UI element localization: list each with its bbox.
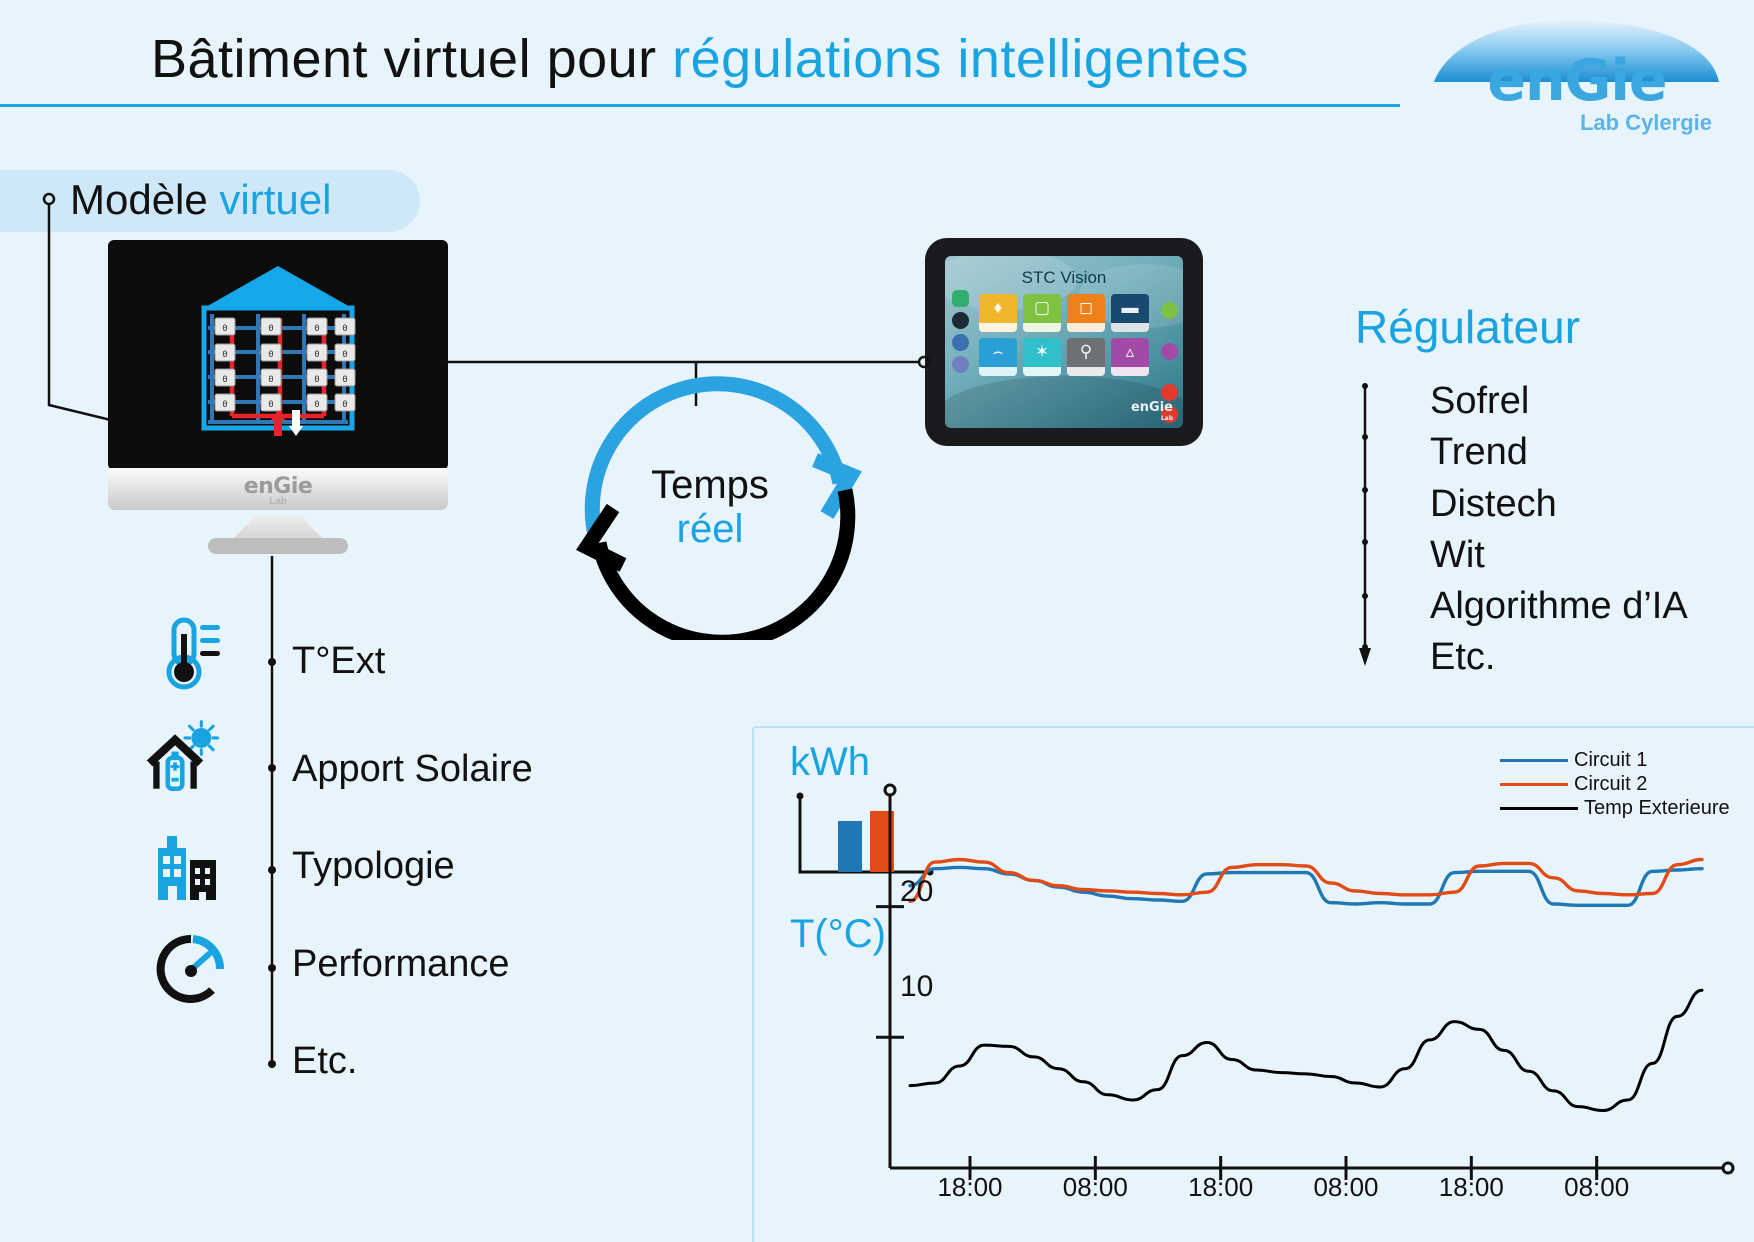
regulator-tablet: STC Vision ♦ ▢ ◻ ▬ xyxy=(925,238,1203,446)
tablet-app-grid: ♦ ▢ ◻ ▬ ⌢ ✶ ⚲ ▵ xyxy=(979,294,1151,382)
svg-text:0: 0 xyxy=(342,400,347,410)
parameter-label-text: T°Ext xyxy=(292,640,385,683)
bucket-tile[interactable]: ◻ xyxy=(1067,294,1105,332)
svg-text:0: 0 xyxy=(268,400,273,410)
regulator-list: Sofrel Trend Distech Wit Algorithme d’IA… xyxy=(1390,376,1688,684)
timeseries-plot xyxy=(860,780,1740,1200)
xtick-label: 08:00 xyxy=(1053,1172,1137,1203)
sparkle-tile[interactable]: ✶ xyxy=(1023,338,1061,376)
bucket-icon: ◻ xyxy=(1067,297,1105,319)
thermometer-icon xyxy=(152,614,230,692)
buildings-icon xyxy=(152,828,230,906)
tile-sheen xyxy=(1111,367,1149,376)
parameter-label-typology: Typologie xyxy=(292,845,455,888)
engie-lab-cylergie-label: Lab Cylergie xyxy=(1442,110,1718,136)
parameter-label-etc: Etc. xyxy=(292,1040,357,1083)
tile-sheen xyxy=(979,367,1017,376)
flame-icon: ♦ xyxy=(979,297,1017,319)
search-icon: ⚲ xyxy=(1067,341,1105,363)
flame-tile[interactable]: ♦ xyxy=(979,294,1017,332)
legend-item-circuit1: Circuit 1 xyxy=(1500,748,1740,772)
arc-icon: ⌢ xyxy=(979,341,1017,363)
svg-text:0: 0 xyxy=(268,350,273,360)
tablet-engie-logo: enGie Lab xyxy=(1131,400,1173,422)
tile-sheen xyxy=(1023,323,1061,332)
building-hvac-schematic: 0000 0000 0000 0000 xyxy=(108,240,448,470)
kwh-axis-label: kWh xyxy=(790,740,870,785)
ytick-label-20: 20 xyxy=(900,875,933,909)
leaf-tile[interactable]: ▢ xyxy=(1023,294,1061,332)
solar-house-icon xyxy=(146,718,224,796)
svg-text:0: 0 xyxy=(342,375,347,385)
regulator-item: Wit xyxy=(1430,530,1688,581)
realtime-cycle-label: Temps réel xyxy=(630,463,790,551)
regulator-item: Trend xyxy=(1430,427,1688,478)
regulator-item: Etc. xyxy=(1430,632,1688,683)
legend-swatch-circuit1 xyxy=(1500,759,1568,762)
left-dot-4 xyxy=(952,356,969,373)
xtick-label: 08:00 xyxy=(1555,1172,1639,1203)
svg-text:0: 0 xyxy=(342,350,347,360)
tablet-screen: STC Vision ♦ ▢ ◻ ▬ xyxy=(945,256,1183,428)
virtual-model-monitor: 0000 0000 0000 0000 enGie Lab xyxy=(108,240,448,570)
parameters-axis xyxy=(264,556,286,1076)
regulator-item: Distech xyxy=(1430,479,1688,530)
svg-text:0: 0 xyxy=(314,375,319,385)
svg-text:0: 0 xyxy=(222,324,227,334)
monitor-stand-base xyxy=(208,538,348,554)
tile-sheen xyxy=(1067,367,1105,376)
right-dot-2 xyxy=(1161,343,1178,360)
tablet-brand-sub: Lab xyxy=(1131,415,1173,422)
kwh-bar-circuit1 xyxy=(838,821,862,872)
tile-row-1: ♦ ▢ ◻ ▬ xyxy=(979,294,1151,332)
monitor-engie-lab-label: Lab xyxy=(108,496,448,507)
search-tile[interactable]: ⚲ xyxy=(1067,338,1105,376)
left-dot-1 xyxy=(952,290,969,307)
cycle-line-1: Temps xyxy=(630,463,790,507)
left-dot-3 xyxy=(952,334,969,351)
tile-sheen xyxy=(1067,323,1105,332)
svg-text:0: 0 xyxy=(222,400,227,410)
tile-sheen xyxy=(979,323,1017,332)
svg-text:0: 0 xyxy=(268,324,273,334)
slider-tile[interactable]: ▬ xyxy=(1111,294,1149,332)
stc-vision-title: STC Vision xyxy=(945,268,1183,288)
tile-sheen xyxy=(1023,367,1061,376)
regulator-item: Algorithme d’IA xyxy=(1430,581,1688,632)
tile-row-2: ⌢ ✶ ⚲ ▵ xyxy=(979,338,1151,376)
gauge-icon xyxy=(152,930,230,1008)
xtick-label: 18:00 xyxy=(1429,1172,1513,1203)
svg-text:0: 0 xyxy=(268,375,273,385)
infographic-root: Bâtiment virtuel pour régulations intell… xyxy=(0,0,1754,1240)
svg-text:0: 0 xyxy=(222,375,227,385)
sail-icon: ▵ xyxy=(1111,341,1149,363)
svg-text:0: 0 xyxy=(222,350,227,360)
parameter-label-solar: Apport Solaire xyxy=(292,748,533,791)
page-title: Bâtiment virtuel pour régulations intell… xyxy=(0,28,1400,90)
engie-logo: enGie Lab Cylergie xyxy=(1426,18,1726,138)
engie-wordmark: enGie xyxy=(1442,48,1712,114)
sparkle-icon: ✶ xyxy=(1023,341,1061,363)
slider-icon: ▬ xyxy=(1111,297,1149,319)
regulator-title: Régulateur xyxy=(1355,300,1580,354)
cycle-line-2: réel xyxy=(630,507,790,551)
right-dot-3 xyxy=(1161,384,1178,401)
xtick-label: 18:00 xyxy=(928,1172,1012,1203)
regulator-list-axis xyxy=(1356,382,1380,672)
ytick-label-10: 10 xyxy=(900,970,933,1004)
svg-text:0: 0 xyxy=(314,324,319,334)
title-underline xyxy=(0,104,1400,107)
page-title-main: Bâtiment virtuel pour xyxy=(151,29,672,89)
tablet-left-dots xyxy=(952,290,969,378)
xtick-label: 18:00 xyxy=(1179,1172,1263,1203)
parameter-label-performance: Performance xyxy=(292,943,510,986)
leaf-icon: ▢ xyxy=(1023,297,1061,319)
model-label-accent: virtuel xyxy=(219,176,331,223)
legend-label-circuit1: Circuit 1 xyxy=(1574,749,1647,772)
xtick-label: 08:00 xyxy=(1304,1172,1388,1203)
svg-text:0: 0 xyxy=(314,400,319,410)
tablet-brand: enGie xyxy=(1131,400,1173,415)
page-title-accent: régulations intelligentes xyxy=(672,29,1249,89)
arc-tile[interactable]: ⌢ xyxy=(979,338,1017,376)
sail-tile[interactable]: ▵ xyxy=(1111,338,1149,376)
regulator-item: Sofrel xyxy=(1430,376,1688,427)
xtick-labels: 18:0008:0018:0008:0018:0008:00 xyxy=(860,1172,1740,1206)
svg-text:0: 0 xyxy=(342,324,347,334)
left-dot-2 xyxy=(952,312,969,329)
tile-sheen xyxy=(1111,323,1149,332)
monitor-screen: 0000 0000 0000 0000 xyxy=(108,240,448,470)
right-dot-1 xyxy=(1161,302,1178,319)
svg-text:0: 0 xyxy=(314,350,319,360)
